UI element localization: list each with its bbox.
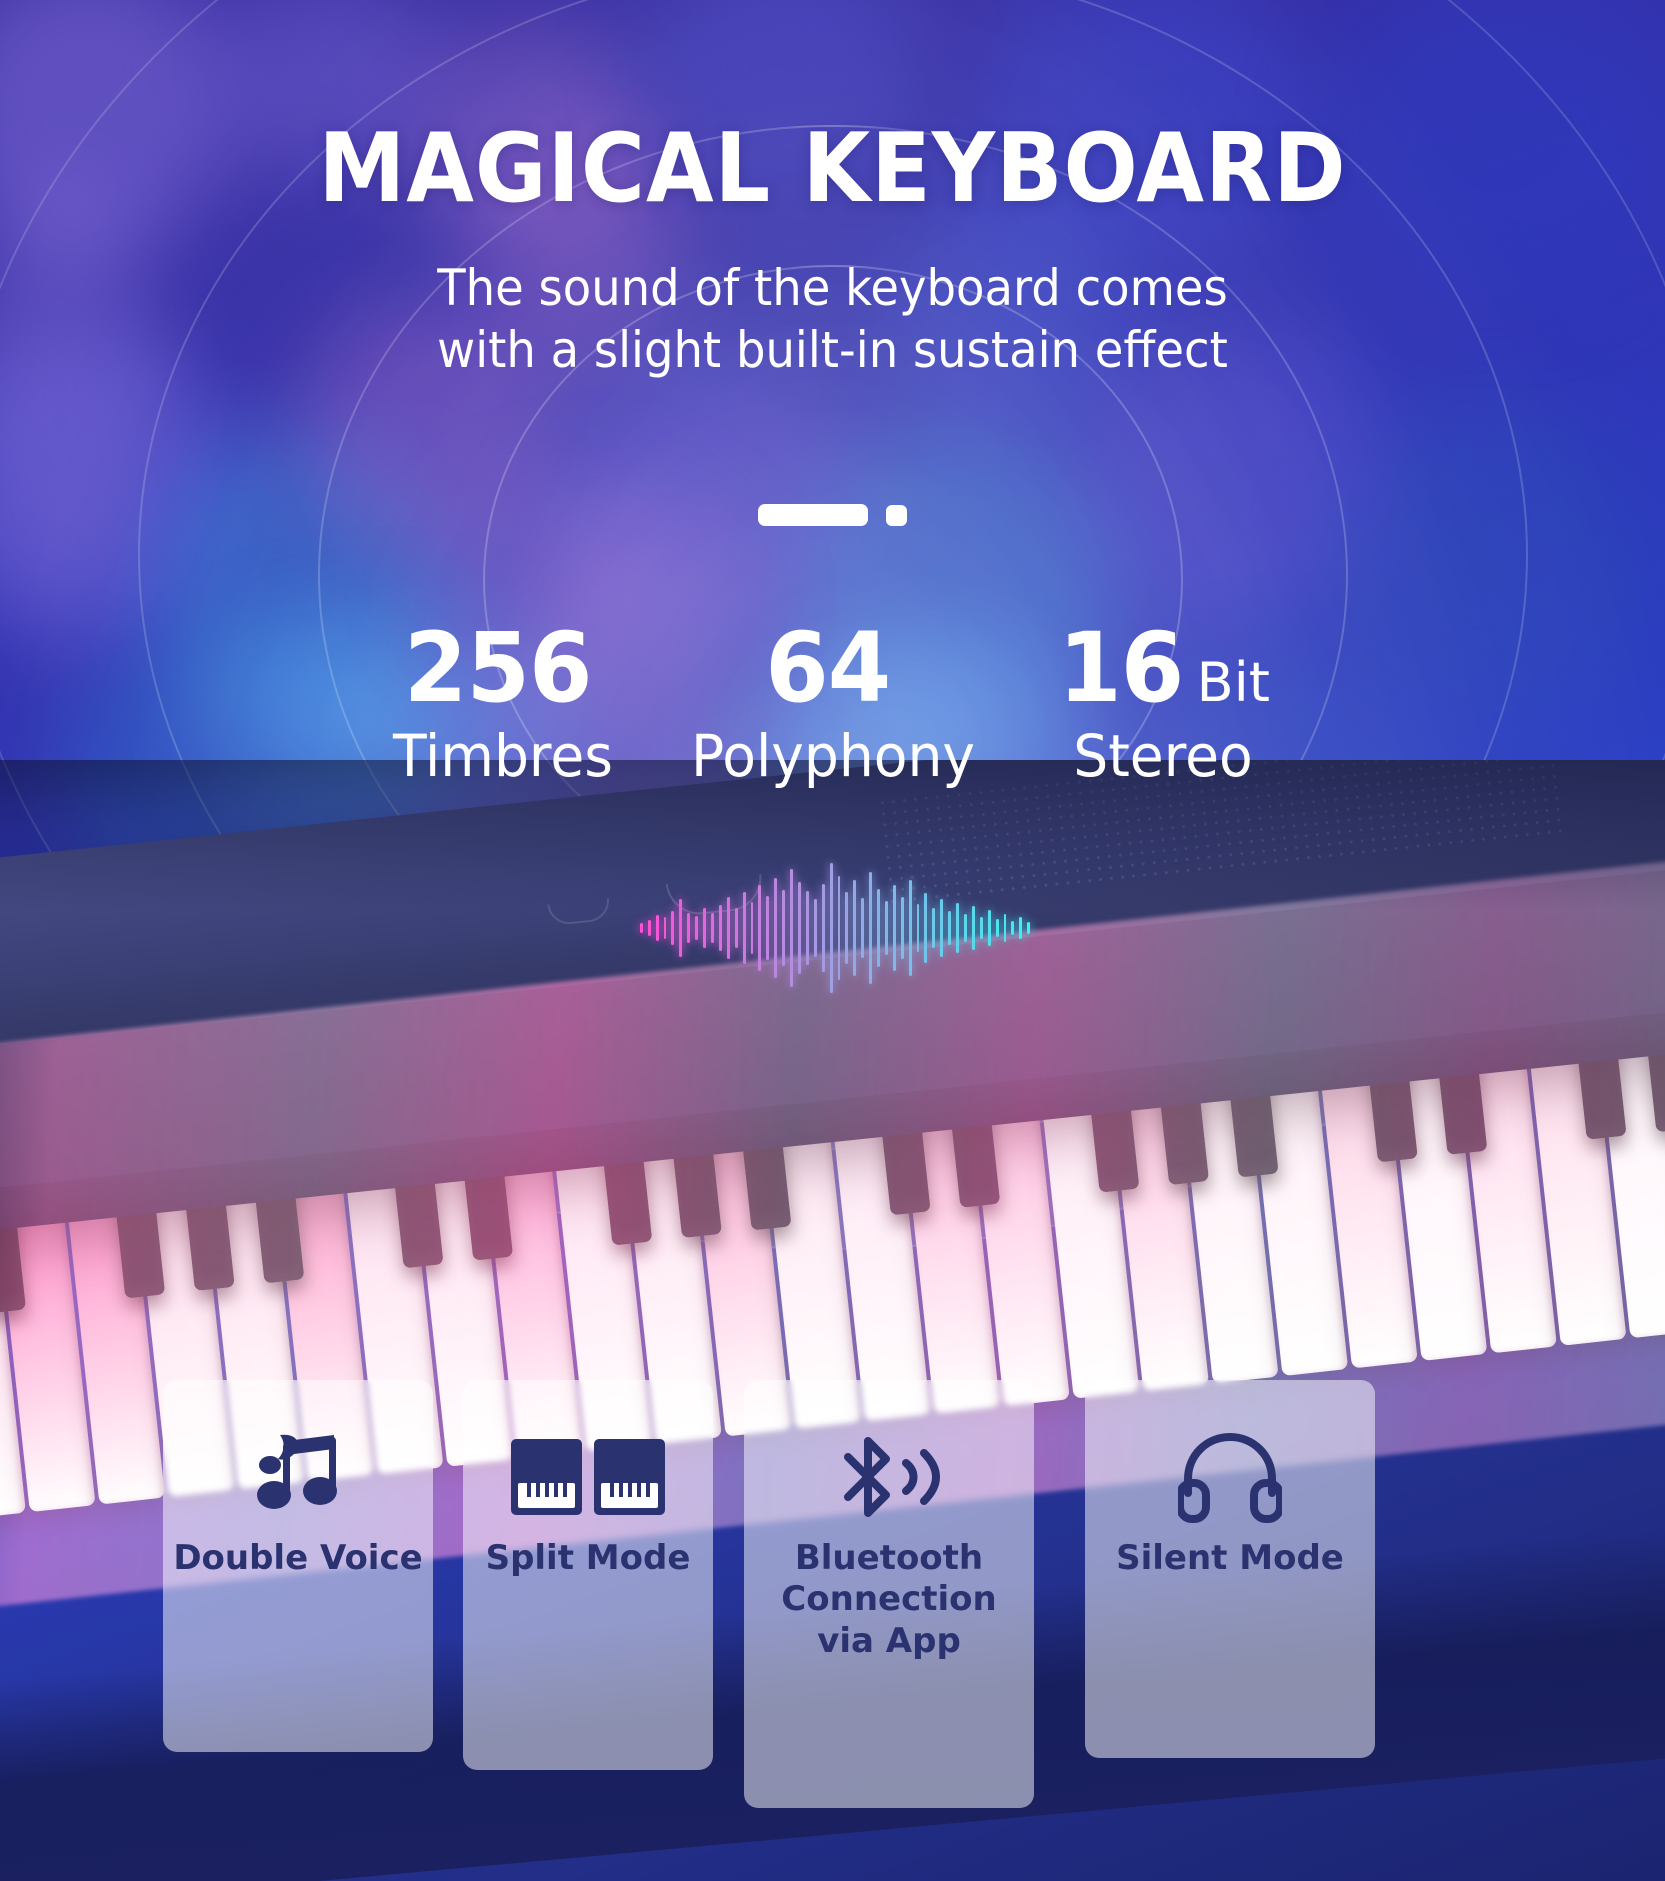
stat-label: Stereo — [1006, 726, 1320, 787]
stat-stereo: 16Bit Stereo — [998, 620, 1328, 787]
feature-card-bluetooth[interactable]: Bluetooth Connection via App — [744, 1380, 1034, 1808]
waveform-bar — [861, 898, 864, 958]
waveform-bar — [893, 885, 896, 971]
waveform-bar — [671, 911, 674, 945]
waveform-bar — [711, 913, 714, 943]
feature-cards: Double Voice — [0, 1380, 1665, 1800]
waveform-bar — [845, 892, 848, 964]
waveform-bar — [743, 892, 746, 964]
waveform-bar — [988, 910, 991, 946]
music-note-icon — [250, 1434, 346, 1520]
page-title: MAGICAL KEYBOARD — [67, 122, 1599, 217]
waveform-bar — [932, 908, 935, 948]
waveform-bar — [917, 904, 920, 952]
divider-bar — [758, 504, 868, 526]
waveform-bar — [798, 882, 801, 974]
feature-card-double-voice[interactable]: Double Voice — [163, 1380, 433, 1752]
waveform-bar — [758, 885, 761, 971]
waveform-bar — [830, 863, 833, 993]
waveform-bar — [664, 917, 667, 939]
feature-card-split-mode[interactable]: Split Mode — [463, 1380, 713, 1770]
waveform-bar — [996, 919, 999, 937]
subtitle: The sound of the keyboard comes with a s… — [58, 257, 1606, 381]
subtitle-line-2: with a slight built-in sustain effect — [58, 319, 1606, 381]
feature-label: Split Mode — [486, 1538, 691, 1579]
waveform-bar — [656, 915, 659, 941]
product-marketing-image: MAGICAL KEYBOARD The sound of the keyboa… — [0, 0, 1665, 1881]
waveform-bar — [1004, 914, 1007, 942]
waveform-bar — [648, 920, 651, 936]
spec-stats: 256 Timbres 64 Polyphony 16Bit Stereo — [0, 620, 1665, 787]
waveform-bar — [956, 903, 959, 953]
stat-number: 256 — [404, 620, 592, 716]
stat-unit: Bit — [1197, 651, 1270, 714]
waveform-bar — [869, 872, 872, 984]
headphones-icon — [1178, 1434, 1282, 1520]
subtitle-line-1: The sound of the keyboard comes — [58, 257, 1606, 319]
waveform-bar — [814, 899, 817, 957]
waveform-bar — [782, 890, 785, 966]
waveform-bar — [806, 891, 809, 965]
waveform-bar — [727, 897, 730, 959]
waveform-bar — [877, 889, 880, 967]
waveform-bar — [940, 899, 943, 957]
feature-label: Double Voice — [173, 1538, 422, 1579]
waveform-bar — [640, 923, 643, 933]
waveform-bar — [695, 916, 698, 940]
header: MAGICAL KEYBOARD The sound of the keyboa… — [0, 0, 1665, 381]
waveform-bar — [948, 911, 951, 945]
waveform-bar — [751, 902, 754, 954]
waveform-bar — [909, 880, 912, 976]
feature-label: Bluetooth Connection via App — [781, 1538, 996, 1662]
waveform-bar — [853, 880, 856, 976]
feature-card-silent-mode[interactable]: Silent Mode — [1085, 1380, 1375, 1758]
waveform-bar — [679, 899, 682, 957]
waveform-bar — [964, 914, 967, 942]
waveform-bar — [822, 884, 825, 972]
stat-timbres: 256 Timbres — [338, 620, 668, 787]
waveform-bar — [1011, 921, 1014, 935]
split-keys-icon — [511, 1434, 665, 1520]
waveform-bar — [838, 876, 841, 980]
waveform-bar — [735, 908, 738, 948]
waveform-bar — [687, 913, 690, 943]
divider-dot — [886, 505, 907, 526]
stat-number: 16 — [1058, 620, 1183, 716]
waveform-bar — [766, 896, 769, 960]
stat-number: 64 — [765, 620, 890, 716]
feature-label: Silent Mode — [1116, 1538, 1344, 1579]
waveform-bar — [790, 869, 793, 987]
audio-waveform — [640, 858, 1030, 998]
waveform-bar — [1019, 917, 1022, 939]
waveform-bar — [980, 917, 983, 939]
waveform-bar — [703, 908, 706, 948]
waveform-bar — [901, 897, 904, 959]
stat-polyphony: 64 Polyphony — [668, 620, 998, 787]
stat-label: Polyphony — [676, 726, 990, 787]
stat-label: Timbres — [346, 726, 660, 787]
waveform-bar — [885, 901, 888, 955]
waveform-bar — [972, 906, 975, 950]
divider — [0, 504, 1665, 526]
waveform-bar — [1027, 922, 1030, 934]
waveform-bar — [774, 878, 777, 978]
waveform-bar — [924, 893, 927, 963]
waveform-bar — [719, 905, 722, 951]
bluetooth-icon — [830, 1434, 948, 1520]
